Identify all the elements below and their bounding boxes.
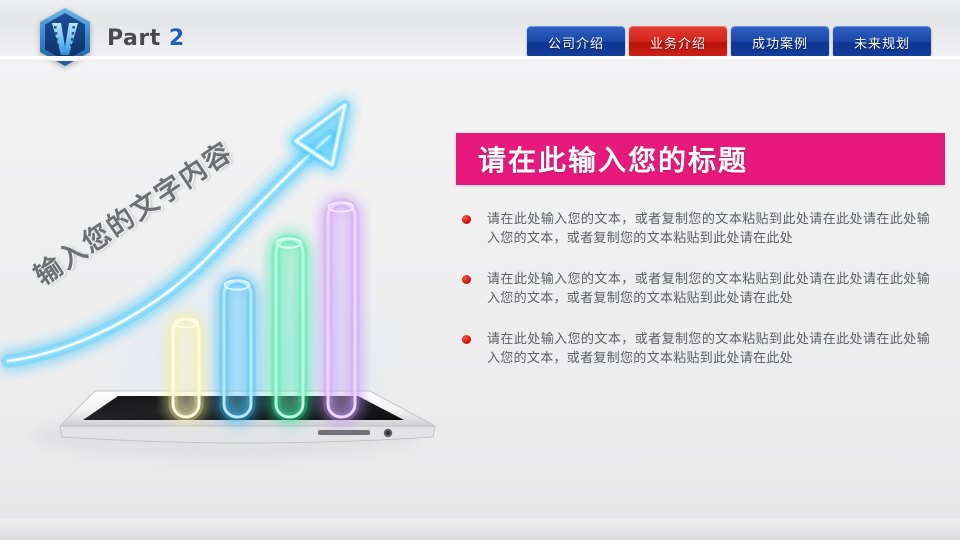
tab-company-intro[interactable]: 公司介绍 bbox=[527, 26, 625, 58]
slide-header: Part 2 公司介绍 业务介绍 成功案例 未来规划 bbox=[0, 0, 960, 61]
bar-4 bbox=[328, 202, 355, 417]
tab-future-plan[interactable]: 未来规划 bbox=[833, 26, 931, 58]
hexagon-film-v-logo-icon bbox=[35, 7, 95, 67]
bullet-text: 请在此处输入您的文本，或者复制您的文本粘贴到此处请在此处请在此处输入您的文本，或… bbox=[487, 330, 930, 368]
list-item: 请在此处输入您的文本，或者复制您的文本粘贴到此处请在此处请在此处输入您的文本，或… bbox=[456, 270, 936, 308]
list-item: 请在此处输入您的文本，或者复制您的文本粘贴到此处请在此处请在此处输入您的文本，或… bbox=[456, 210, 936, 248]
content-title-bar: 请在此输入您的标题 bbox=[456, 133, 945, 185]
bullet-dot-icon bbox=[462, 335, 471, 344]
slide-root: Part 2 公司介绍 业务介绍 成功案例 未来规划 bbox=[0, 0, 960, 540]
bullet-dot-icon bbox=[462, 215, 471, 224]
tab-success-cases[interactable]: 成功案例 bbox=[731, 26, 829, 58]
page-title: Part 2 bbox=[107, 26, 185, 51]
part-number: 2 bbox=[169, 26, 185, 51]
slide-footer bbox=[0, 517, 960, 540]
bar-3 bbox=[276, 238, 303, 417]
header-sheen bbox=[0, 0, 960, 26]
bullet-text: 请在此处输入您的文本，或者复制您的文本粘贴到此处请在此处请在此处输入您的文本，或… bbox=[487, 270, 930, 308]
brand-logo bbox=[24, 6, 106, 68]
bar-2 bbox=[224, 280, 251, 417]
bullet-list: 请在此处输入您的文本，或者复制您的文本粘贴到此处请在此处请在此处输入您的文本，或… bbox=[456, 210, 936, 390]
content-title: 请在此输入您的标题 bbox=[478, 139, 748, 179]
list-item: 请在此处输入您的文本，或者复制您的文本粘贴到此处请在此处请在此处输入您的文本，或… bbox=[456, 330, 936, 368]
tab-business-intro[interactable]: 业务介绍 bbox=[629, 26, 727, 58]
chart-illustration: 输入您的文字内容 bbox=[0, 61, 460, 481]
nav-tabs: 公司介绍 业务介绍 成功案例 未来规划 bbox=[527, 26, 931, 58]
bullet-dot-icon bbox=[462, 275, 471, 284]
bar-1 bbox=[173, 319, 199, 417]
bullet-text: 请在此处输入您的文本，或者复制您的文本粘贴到此处请在此处请在此处输入您的文本，或… bbox=[487, 210, 930, 248]
part-label-text: Part bbox=[107, 26, 161, 51]
